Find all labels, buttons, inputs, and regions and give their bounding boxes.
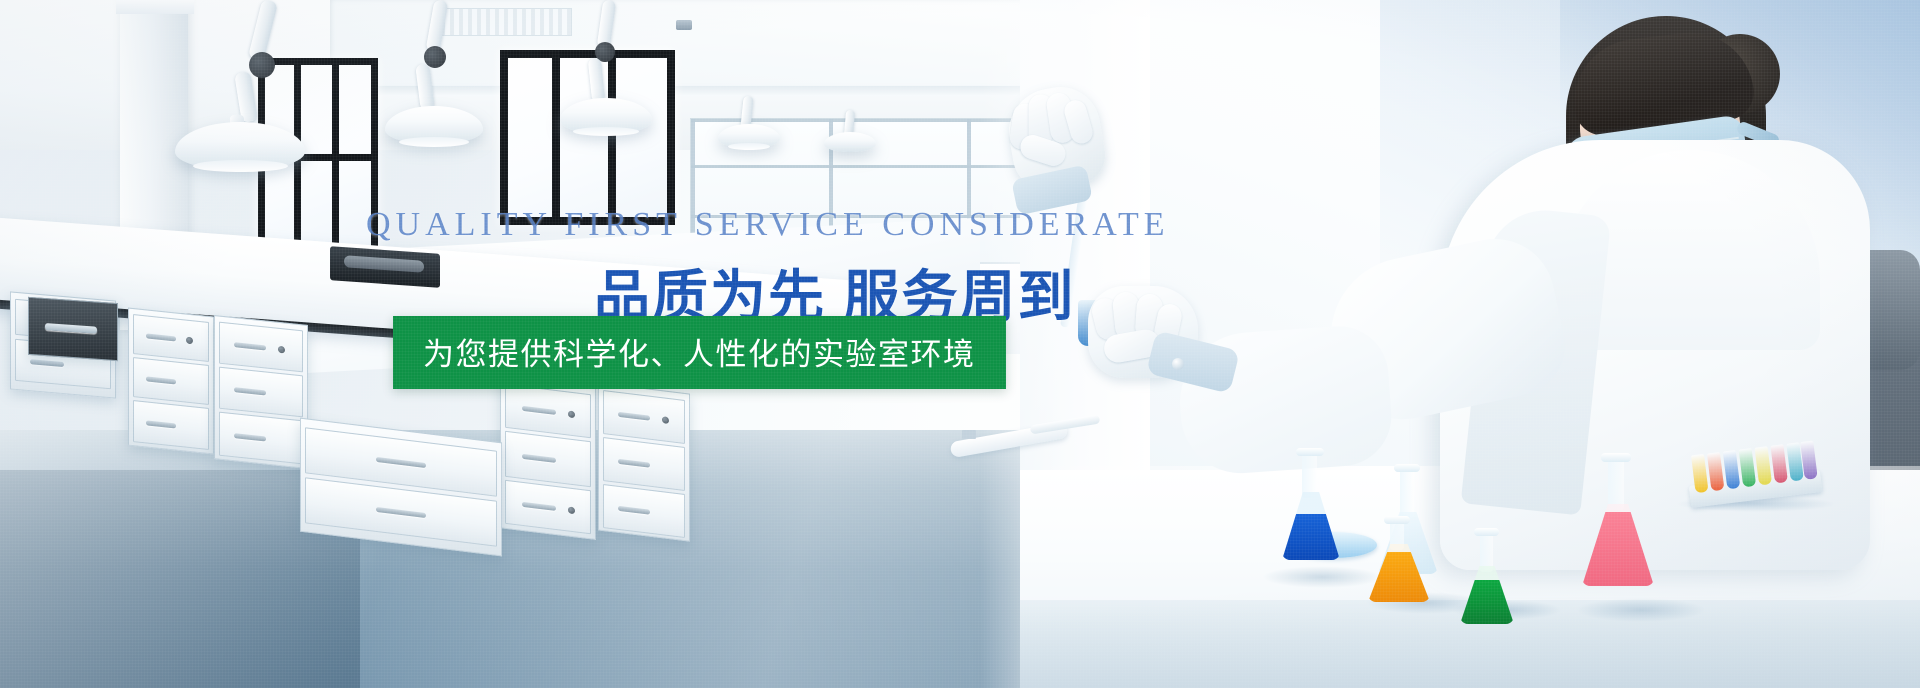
window-center [500,50,675,225]
lamp-shade-icon [824,132,876,152]
tagline-english: QUALITY FIRST SERVICE CONSIDERATE [366,206,1170,244]
cabinet-mid-b [214,315,308,469]
promo-banner: QUALITY FIRST SERVICE CONSIDERATE 品质为先 服… [0,0,1920,688]
label-chip [962,430,976,439]
cabinet-mid-a [128,307,214,454]
subtitle-green-bar: 为您提供科学化、人性化的实验室环境 [393,316,1006,389]
arm-joint-icon [249,52,275,78]
column-cap [116,0,194,14]
cabinet-right-b [598,382,690,541]
sprinkler-icon [676,20,692,30]
cabinet-right-a [500,376,596,540]
cuff-button-icon [1172,358,1184,370]
under-bench-unit [28,297,118,361]
ceiling-vent-icon [440,8,572,36]
subtitle-chinese: 为您提供科学化、人性化的实验室环境 [423,329,976,374]
